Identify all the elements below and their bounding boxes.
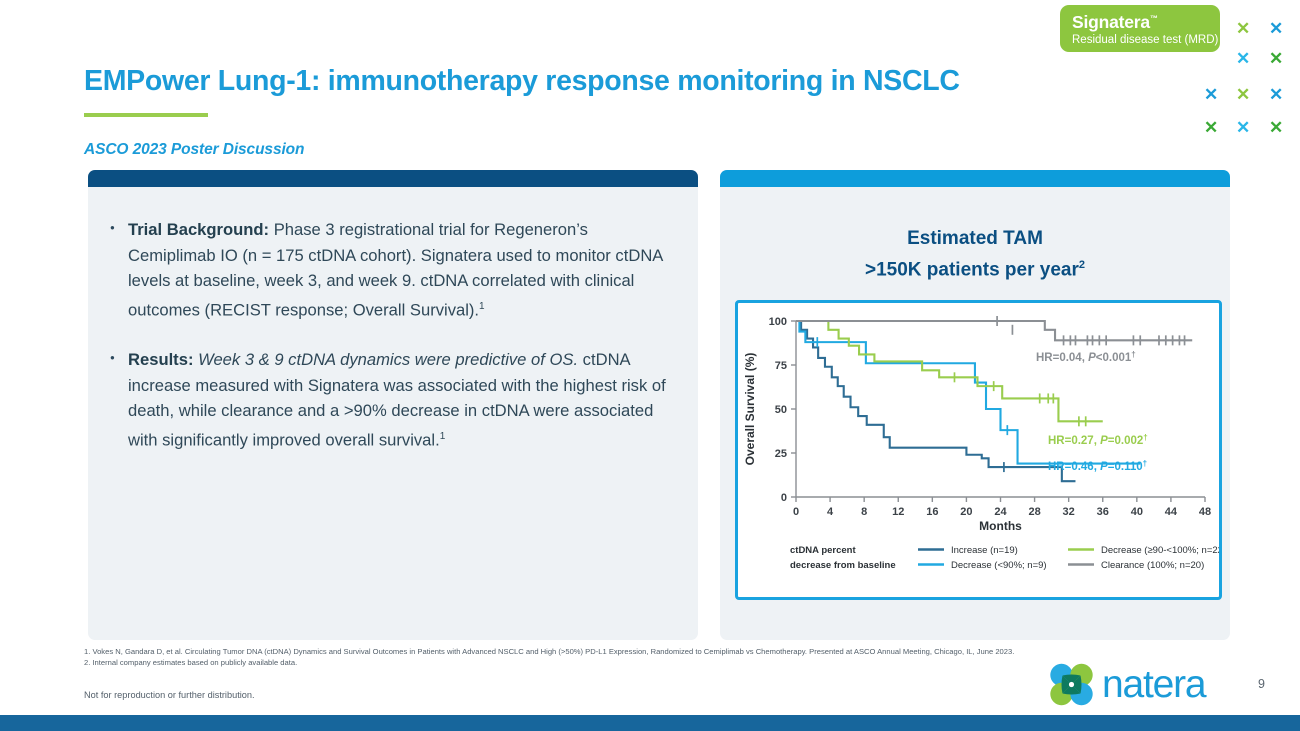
decorative-x-icon: ✕ xyxy=(1236,50,1250,67)
bullet-label: Results: xyxy=(128,350,193,369)
legend-label: Decrease (<90%; n=9) xyxy=(951,560,1047,571)
page-subtitle: ASCO 2023 Poster Discussion xyxy=(84,141,304,159)
bottom-accent-bar xyxy=(0,715,1300,731)
trial-summary-panel: Trial Background: Phase 3 registrational… xyxy=(88,170,698,640)
signatera-brand-name: Signatera™ xyxy=(1072,9,1220,32)
x-tick-label: 20 xyxy=(960,506,972,518)
disclaimer-text: Not for reproduction or further distribu… xyxy=(84,690,255,700)
bullet-label: Trial Background: xyxy=(128,220,269,239)
natera-logo: natera xyxy=(1048,662,1205,707)
footnote-1: 1. Vokes N, Gandara D, et al. Circulatin… xyxy=(84,647,1154,658)
x-tick-label: 32 xyxy=(1063,506,1075,518)
bullet-text: Results: Week 3 & 9 ctDNA dynamics were … xyxy=(128,347,672,453)
tam-heading-line2: >150K patients per year2 xyxy=(720,252,1230,283)
x-tick-label: 24 xyxy=(994,506,1007,518)
tam-heading: Estimated TAM >150K patients per year2 xyxy=(720,225,1230,283)
bullet-list: Trial Background: Phase 3 registrational… xyxy=(88,187,698,453)
y-axis-title: Overall Survival (%) xyxy=(743,353,757,466)
y-tick-label: 50 xyxy=(775,404,787,416)
trademark-symbol: ™ xyxy=(1150,14,1158,23)
panel-header-bar-left xyxy=(88,170,698,187)
bullet-point-icon xyxy=(110,217,128,228)
legend-label: Decrease (≥90-<100%; n=22) xyxy=(1101,545,1219,556)
legend-label: Increase (n=19) xyxy=(951,545,1018,556)
x-tick-label: 36 xyxy=(1097,506,1109,518)
bullet-point-icon xyxy=(110,347,128,358)
decorative-x-icon: ✕ xyxy=(1269,50,1283,67)
decorative-x-icon: ✕ xyxy=(1236,86,1250,103)
decorative-x-icon: ✕ xyxy=(1269,119,1283,136)
decorative-x-icon: ✕ xyxy=(1204,119,1218,136)
natera-flower-icon xyxy=(1048,662,1095,707)
hr-annotation: HR=0.27, P=0.002† xyxy=(1048,433,1148,448)
decorative-x-icon: ✕ xyxy=(1236,20,1250,37)
footnote-ref: 1 xyxy=(479,301,485,312)
x-axis-title: Months xyxy=(979,519,1022,533)
title-underline-accent xyxy=(84,113,208,117)
x-tick-label: 12 xyxy=(892,506,904,518)
footnote-ref: 1 xyxy=(440,431,446,442)
panel-header-bar-right xyxy=(720,170,1230,187)
decorative-x-icon: ✕ xyxy=(1204,86,1218,103)
decorative-x-icon: ✕ xyxy=(1269,20,1283,37)
tam-footnote-ref: 2 xyxy=(1079,259,1085,271)
decorative-x-icon: ✕ xyxy=(1269,86,1283,103)
bullet-item: Trial Background: Phase 3 registrational… xyxy=(110,217,672,323)
natera-wordmark: natera xyxy=(1102,665,1205,704)
bullet-item: Results: Week 3 & 9 ctDNA dynamics were … xyxy=(110,347,672,453)
hr-annotation: HR=0.46, P=0.110† xyxy=(1048,459,1147,474)
x-tick-label: 48 xyxy=(1199,506,1211,518)
decorative-x-icon: ✕ xyxy=(1236,119,1250,136)
x-tick-label: 4 xyxy=(827,506,834,518)
y-tick-label: 25 xyxy=(775,448,787,460)
signatera-logo-badge: Signatera™ Residual disease test (MRD) xyxy=(1060,5,1220,52)
x-tick-label: 40 xyxy=(1131,506,1143,518)
bullet-emphasis: Week 3 & 9 ctDNA dynamics were predictiv… xyxy=(198,350,578,369)
hr-annotation: HR=0.04, P<0.001† xyxy=(1036,350,1136,365)
x-tick-label: 8 xyxy=(861,506,867,518)
y-tick-label: 75 xyxy=(775,360,787,372)
x-tick-label: 0 xyxy=(793,506,799,518)
footnotes: 1. Vokes N, Gandara D, et al. Circulatin… xyxy=(84,647,1154,668)
legend-label: Clearance (100%; n=20) xyxy=(1101,560,1204,571)
kaplan-meier-chart: 025507510004812162024283236404448MonthsO… xyxy=(735,300,1222,600)
bullet-text: Trial Background: Phase 3 registrational… xyxy=(128,217,672,323)
signatera-tagline: Residual disease test (MRD) xyxy=(1072,33,1220,47)
top-rule xyxy=(0,0,1300,4)
x-tick-label: 28 xyxy=(1028,506,1040,518)
x-tick-label: 16 xyxy=(926,506,938,518)
legend-title-line1: ctDNA percent xyxy=(790,545,856,556)
y-tick-label: 100 xyxy=(769,316,787,328)
page-number: 9 xyxy=(1258,677,1265,691)
legend-title-line2: decrease from baseline xyxy=(790,560,896,571)
y-tick-label: 0 xyxy=(781,492,787,504)
km-curve xyxy=(796,321,1075,481)
km-curve xyxy=(796,321,1103,421)
tam-heading-line1: Estimated TAM xyxy=(720,225,1230,252)
footnote-2: 2. Internal company estimates based on p… xyxy=(84,658,1154,669)
page-title: EMPower Lung-1: immunotherapy response m… xyxy=(84,65,960,98)
x-tick-label: 44 xyxy=(1165,506,1178,518)
km-plot-svg: 025507510004812162024283236404448MonthsO… xyxy=(738,303,1219,597)
